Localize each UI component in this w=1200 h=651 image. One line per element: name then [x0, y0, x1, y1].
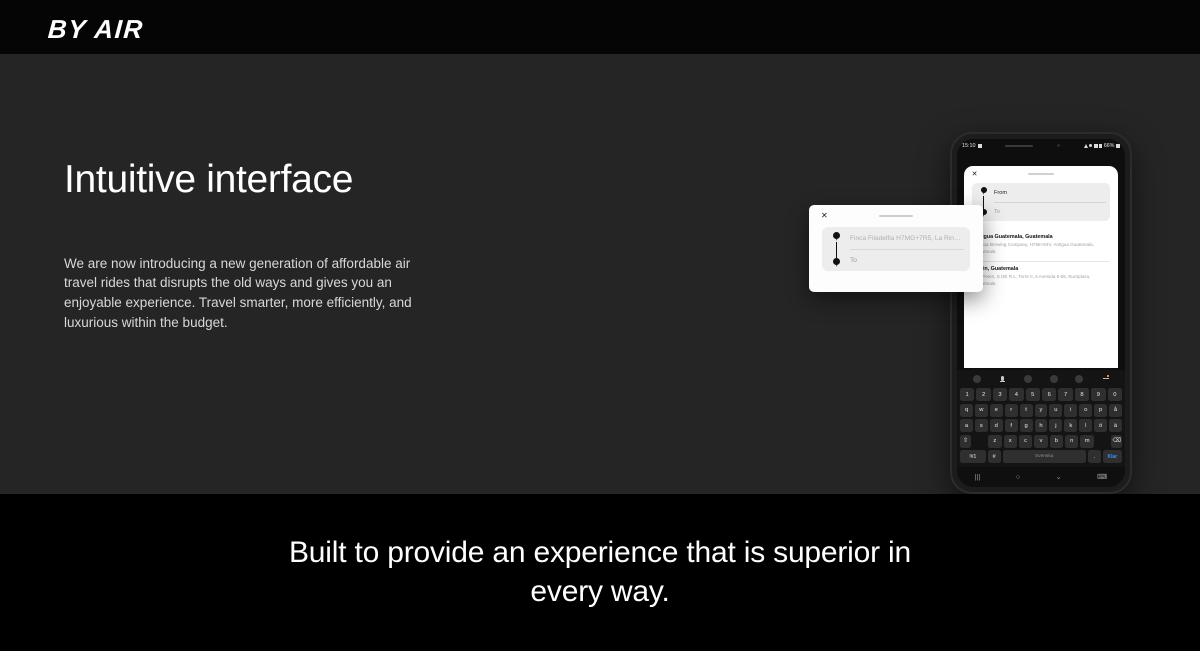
key[interactable]: å: [1109, 404, 1122, 417]
key[interactable]: i: [1064, 404, 1077, 417]
key[interactable]: 2: [976, 388, 990, 401]
hero-section: Intuitive interface We are now introduci…: [0, 54, 1200, 494]
key[interactable]: g: [1020, 419, 1033, 432]
key[interactable]: 9: [1091, 388, 1105, 401]
to-input[interactable]: To: [972, 202, 1110, 221]
key[interactable]: n: [1065, 435, 1078, 448]
key[interactable]: a: [960, 419, 973, 432]
key[interactable]: u: [1049, 404, 1062, 417]
key[interactable]: s: [975, 419, 988, 432]
key[interactable]: y: [1035, 404, 1048, 417]
sticker-icon[interactable]: [1075, 375, 1083, 383]
key[interactable]: k: [1064, 419, 1077, 432]
keyboard-row-numbers: 1 2 3 4 5 6 7 8 9 0: [960, 388, 1122, 401]
key[interactable]: w: [975, 404, 988, 417]
shift-key[interactable]: ⇧: [960, 435, 971, 448]
field-divider: [994, 202, 1106, 203]
phone-screen: 15:10 66%: [957, 139, 1125, 487]
keyboard-row-modifiers: !#1 # Svenska . Klar: [960, 450, 1122, 463]
suggestion-title: Petén, Guatemala: [973, 266, 1109, 272]
key[interactable]: d: [990, 419, 1003, 432]
phone-mockup: 15:10 66%: [950, 132, 1132, 494]
virtual-keyboard[interactable]: 1 2 3 4 5 6 7 8 9 0 q w e: [957, 370, 1125, 468]
status-left: 15:10: [962, 143, 982, 149]
key[interactable]: x: [1004, 435, 1017, 448]
sheet-header: ✕: [964, 166, 1118, 183]
recents-icon[interactable]: |||: [975, 474, 980, 481]
front-camera-icon: [1057, 144, 1061, 148]
resize-handle-icon[interactable]: [1101, 375, 1109, 383]
from-input[interactable]: From: [972, 183, 1110, 202]
status-bar: 15:10 66%: [957, 139, 1125, 152]
emoji-icon[interactable]: [973, 375, 981, 383]
settings-gear-icon[interactable]: [1024, 375, 1032, 383]
spacer: [973, 435, 986, 448]
key[interactable]: r: [1005, 404, 1018, 417]
space-key[interactable]: Svenska: [1003, 450, 1086, 463]
banner-headline: Built to provide an experience that is s…: [250, 534, 950, 611]
destination-pin-icon: [833, 258, 840, 267]
key[interactable]: o: [1079, 404, 1092, 417]
battery-percent: 66%: [1104, 143, 1115, 149]
key[interactable]: b: [1050, 435, 1063, 448]
android-nav-bar: ||| ○ ⌄ ⌨: [957, 467, 1125, 487]
microphone-icon[interactable]: [998, 375, 1006, 383]
drag-handle[interactable]: [879, 215, 913, 217]
camera-icon: [978, 144, 982, 148]
key[interactable]: j: [1049, 419, 1062, 432]
key[interactable]: 8: [1075, 388, 1089, 401]
spacer: [1096, 435, 1109, 448]
floating-location-card: ✕ Finca Filadelfia H7MG+7R5, La Rin… To: [809, 205, 983, 292]
route-line: [836, 242, 837, 259]
keyboard-row-top: q w e r t y u i o p å: [960, 404, 1122, 417]
notch-pill: [1005, 145, 1033, 147]
hide-keyboard-icon[interactable]: ⌄: [1056, 473, 1062, 481]
origin-pin-icon: [833, 232, 840, 241]
battery-icon: [1116, 144, 1120, 148]
wifi-icon: [1094, 144, 1098, 148]
status-right: 66%: [1084, 143, 1120, 149]
key[interactable]: ä: [1109, 419, 1122, 432]
key[interactable]: 5: [1026, 388, 1040, 401]
period-key[interactable]: .: [1088, 450, 1101, 463]
symbols-key[interactable]: !#1: [960, 450, 986, 463]
route-line: [983, 196, 984, 210]
keyboard-toolbar: [960, 373, 1122, 386]
from-input[interactable]: Finca Filadelfia H7MG+7R5, La Rin…: [822, 227, 970, 249]
close-icon[interactable]: ✕: [821, 212, 828, 220]
signal-icon: [1099, 144, 1102, 148]
floating-route-fields: Finca Filadelfia H7MG+7R5, La Rin… To: [822, 227, 970, 271]
key[interactable]: f: [1005, 419, 1018, 432]
key[interactable]: h: [1035, 419, 1048, 432]
key[interactable]: 0: [1108, 388, 1122, 401]
origin-pin-icon: [981, 187, 987, 195]
hero-copy: Intuitive interface We are now introduci…: [64, 159, 484, 332]
to-input[interactable]: To: [822, 249, 970, 271]
key[interactable]: 4: [1009, 388, 1023, 401]
key[interactable]: m: [1080, 435, 1093, 448]
key[interactable]: l: [1079, 419, 1092, 432]
list-item[interactable]: Petén, Guatemala City Peten, S DE R.L, T…: [973, 261, 1109, 293]
close-icon[interactable]: ✕: [971, 171, 978, 178]
keyboard-switch-icon[interactable]: ⌨: [1097, 473, 1107, 481]
key[interactable]: 6: [1042, 388, 1056, 401]
field-divider: [850, 249, 964, 250]
key[interactable]: v: [1034, 435, 1047, 448]
key[interactable]: 7: [1058, 388, 1072, 401]
hash-key[interactable]: #: [988, 450, 1001, 463]
bottom-banner: Built to provide an experience that is s…: [0, 494, 1200, 651]
key[interactable]: e: [990, 404, 1003, 417]
key[interactable]: c: [1019, 435, 1032, 448]
list-item[interactable]: Antigua Guatemala, Guatemala Antigua Bre…: [973, 230, 1109, 261]
suggestion-subtitle: Antigua Brewing Company, H758+84V, Antig…: [973, 242, 1109, 256]
search-icon[interactable]: [1050, 375, 1058, 383]
route-fields: From To: [972, 183, 1110, 221]
landing-page: BY AIR Intuitive interface We are now in…: [0, 0, 1200, 651]
status-time: 15:10: [962, 143, 976, 149]
suggestion-title: Antigua Guatemala, Guatemala: [973, 234, 1109, 240]
key[interactable]: 1: [960, 388, 974, 401]
keyboard-row-home: a s d f g h j k l ö ä: [960, 419, 1122, 432]
key[interactable]: t: [1020, 404, 1033, 417]
brand-logo[interactable]: BY AIR: [47, 14, 145, 45]
location-sheet: ✕ From To: [964, 166, 1118, 368]
backspace-key[interactable]: ⌫: [1111, 435, 1122, 448]
keyboard-row-bottom: ⇧ z x c v b n m ⌫: [960, 435, 1122, 448]
volume-icon: [1084, 144, 1088, 148]
route-pins: [831, 232, 842, 270]
key[interactable]: ö: [1094, 419, 1107, 432]
drag-handle[interactable]: [1028, 173, 1054, 175]
suggestion-subtitle: City Peten, S DE R.L, Torre II, 5 Avenid…: [973, 274, 1109, 288]
hero-description: We are now introducing a new generation …: [64, 254, 414, 332]
done-key[interactable]: Klar: [1103, 450, 1122, 463]
suggestion-list: Antigua Guatemala, Guatemala Antigua Bre…: [973, 230, 1109, 293]
site-header: BY AIR: [0, 0, 1200, 54]
key[interactable]: z: [988, 435, 1001, 448]
key[interactable]: 3: [993, 388, 1007, 401]
page-title: Intuitive interface: [64, 159, 484, 202]
home-icon[interactable]: ○: [1016, 474, 1020, 481]
location-icon: [1089, 144, 1092, 147]
key[interactable]: q: [960, 404, 973, 417]
key[interactable]: p: [1094, 404, 1107, 417]
floating-card-header: ✕: [809, 205, 983, 227]
